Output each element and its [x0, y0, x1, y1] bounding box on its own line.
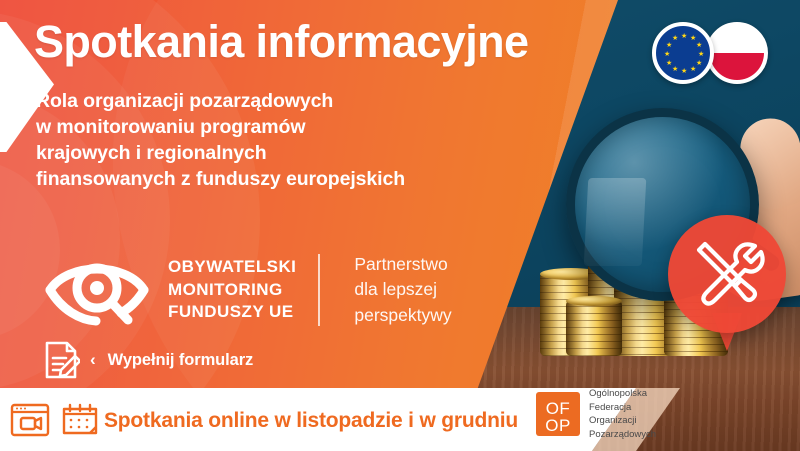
subtitle-line: w monitorowaniu programów	[36, 114, 405, 140]
subtitle-line: Rola organizacji pozarządowych	[36, 88, 405, 114]
flags-group: ★ ★ ★ ★ ★ ★ ★ ★ ★ ★ ★ ★	[652, 22, 776, 84]
coin-top	[566, 296, 622, 306]
chevron-left-icon: ‹	[90, 350, 96, 370]
subtitle-line: krajowych i regionalnych	[36, 140, 405, 166]
ofop-name: Ogólnopolska Federacja Organizacji Pozar…	[589, 387, 656, 441]
tagline-line: dla lepszej	[354, 277, 451, 302]
ofop-mark-line1: OF	[536, 400, 580, 417]
tagline-line: perspektywy	[354, 303, 451, 328]
brand-tagline: Partnerstwo dla lepszej perspektywy	[354, 252, 451, 328]
brand-name-line: OBYWATELSKI	[168, 256, 296, 279]
bottom-bar-text: Spotkania online w listopadzie i w grudn…	[104, 409, 518, 433]
ofop-name-line: Organizacji	[589, 414, 656, 427]
brand-name-line: FUNDUSZY UE	[168, 301, 296, 324]
coin-stack	[566, 300, 622, 356]
tagline-line: Partnerstwo	[354, 252, 451, 277]
brand-logo: OBYWATELSKI MONITORING FUNDUSZY UE Partn…	[44, 250, 452, 330]
brand-name: OBYWATELSKI MONITORING FUNDUSZY UE	[168, 256, 296, 324]
tools-badge	[668, 215, 786, 333]
poster-subtitle: Rola organizacji pozarządowych w monitor…	[36, 88, 405, 193]
poland-flag	[706, 22, 768, 84]
tools-wrench-screwdriver-icon	[689, 236, 765, 312]
form-pencil-icon	[44, 340, 80, 380]
fill-form-label: Wypełnij formularz	[108, 351, 254, 370]
ofop-name-line: Pozarządowych	[589, 428, 656, 441]
video-window-icon	[10, 403, 50, 437]
bottom-bar-icons	[10, 403, 100, 437]
page-title: Spotkania informacyjne	[34, 16, 528, 68]
magnifier-glint	[584, 178, 647, 266]
subtitle-line: finansowanych z funduszy europejskich	[36, 166, 405, 192]
fill-form-link[interactable]: ‹ Wypełnij formularz	[44, 340, 253, 380]
poster-banner: Spotkania informacyjne Rola organizacji …	[0, 0, 800, 451]
ofop-logo: OF OP Ogólnopolska Federacja Organizacji…	[536, 387, 656, 441]
divider	[318, 254, 320, 326]
ofop-name-line: Federacja	[589, 401, 656, 414]
ofop-mark: OF OP	[536, 392, 580, 436]
eye-magnifier-icon	[44, 250, 150, 330]
calendar-icon	[60, 403, 100, 437]
european-union-flag: ★ ★ ★ ★ ★ ★ ★ ★ ★ ★ ★ ★	[652, 22, 714, 84]
ofop-name-line: Ogólnopolska	[589, 387, 656, 400]
ofop-mark-line2: OP	[536, 417, 580, 434]
brand-name-line: MONITORING	[168, 279, 296, 302]
